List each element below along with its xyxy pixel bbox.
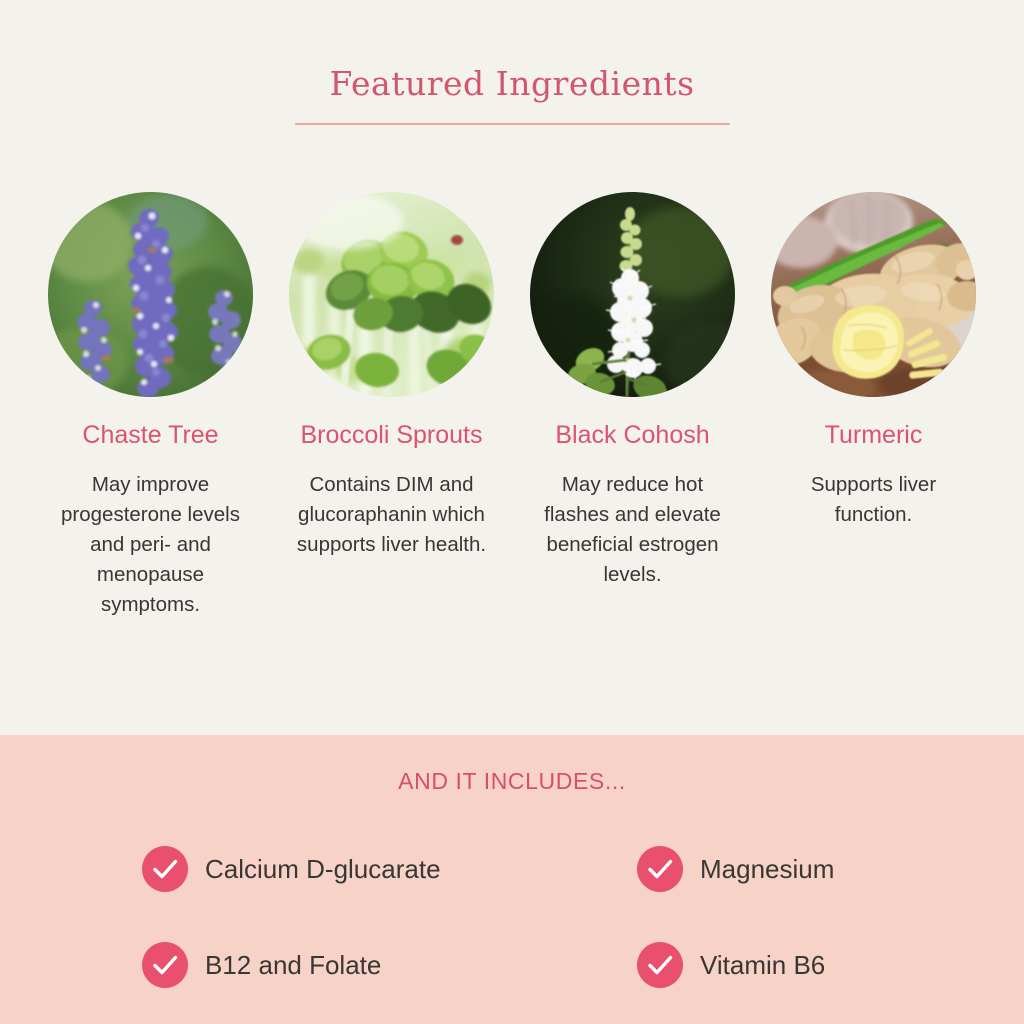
broccoli-sprouts-photo: [289, 192, 494, 397]
ingredient-grid: Chaste Tree May improve progesterone lev…: [30, 192, 994, 620]
check-icon: [637, 846, 683, 892]
ingredient-description: May improve progesterone levels and peri…: [47, 470, 255, 621]
ingredient-description: Contains DIM and glucoraphanin which sup…: [288, 470, 496, 560]
ingredient-description: Supports liver function.: [770, 470, 978, 530]
featured-ingredients-page: Featured Ingredients: [0, 0, 1024, 1024]
black-cohosh-photo: [530, 192, 735, 397]
check-icon: [142, 846, 188, 892]
includes-heading: AND IT INCLUDES...: [0, 768, 1024, 795]
ingredient-card-broccoli-sprouts: Broccoli Sprouts Contains DIM and glucor…: [271, 192, 512, 560]
checklist-item: Calcium D-glucarate: [142, 846, 637, 892]
checklist-label: Vitamin B6: [700, 951, 825, 980]
ingredient-name: Black Cohosh: [555, 422, 709, 450]
ingredient-card-chaste-tree: Chaste Tree May improve progesterone lev…: [30, 192, 271, 620]
checklist-label: Magnesium: [700, 855, 834, 884]
ingredient-name: Turmeric: [825, 422, 923, 450]
chaste-tree-photo: [48, 192, 253, 397]
ingredient-name: Chaste Tree: [82, 422, 218, 450]
checklist-label: B12 and Folate: [205, 951, 381, 980]
featured-ingredients-section: Featured Ingredients: [0, 0, 1024, 735]
check-icon: [637, 942, 683, 988]
checklist-item: Vitamin B6: [637, 942, 882, 988]
includes-section: AND IT INCLUDES... Calcium D-glucarate M…: [0, 735, 1024, 1024]
checklist-item: B12 and Folate: [142, 942, 637, 988]
checklist-item: Magnesium: [637, 846, 882, 892]
page-title: Featured Ingredients: [0, 64, 1024, 103]
ingredient-card-turmeric: Turmeric Supports liver function.: [753, 192, 994, 530]
ingredient-description: May reduce hot flashes and elevate benef…: [529, 470, 737, 591]
turmeric-photo: [771, 192, 976, 397]
title-divider: [295, 123, 730, 125]
includes-checklist: Calcium D-glucarate Magnesium B12 and Fo…: [142, 821, 882, 1013]
checklist-label: Calcium D-glucarate: [205, 855, 441, 884]
check-icon: [142, 942, 188, 988]
ingredient-name: Broccoli Sprouts: [300, 422, 482, 450]
ingredient-card-black-cohosh: Black Cohosh May reduce hot flashes and …: [512, 192, 753, 590]
